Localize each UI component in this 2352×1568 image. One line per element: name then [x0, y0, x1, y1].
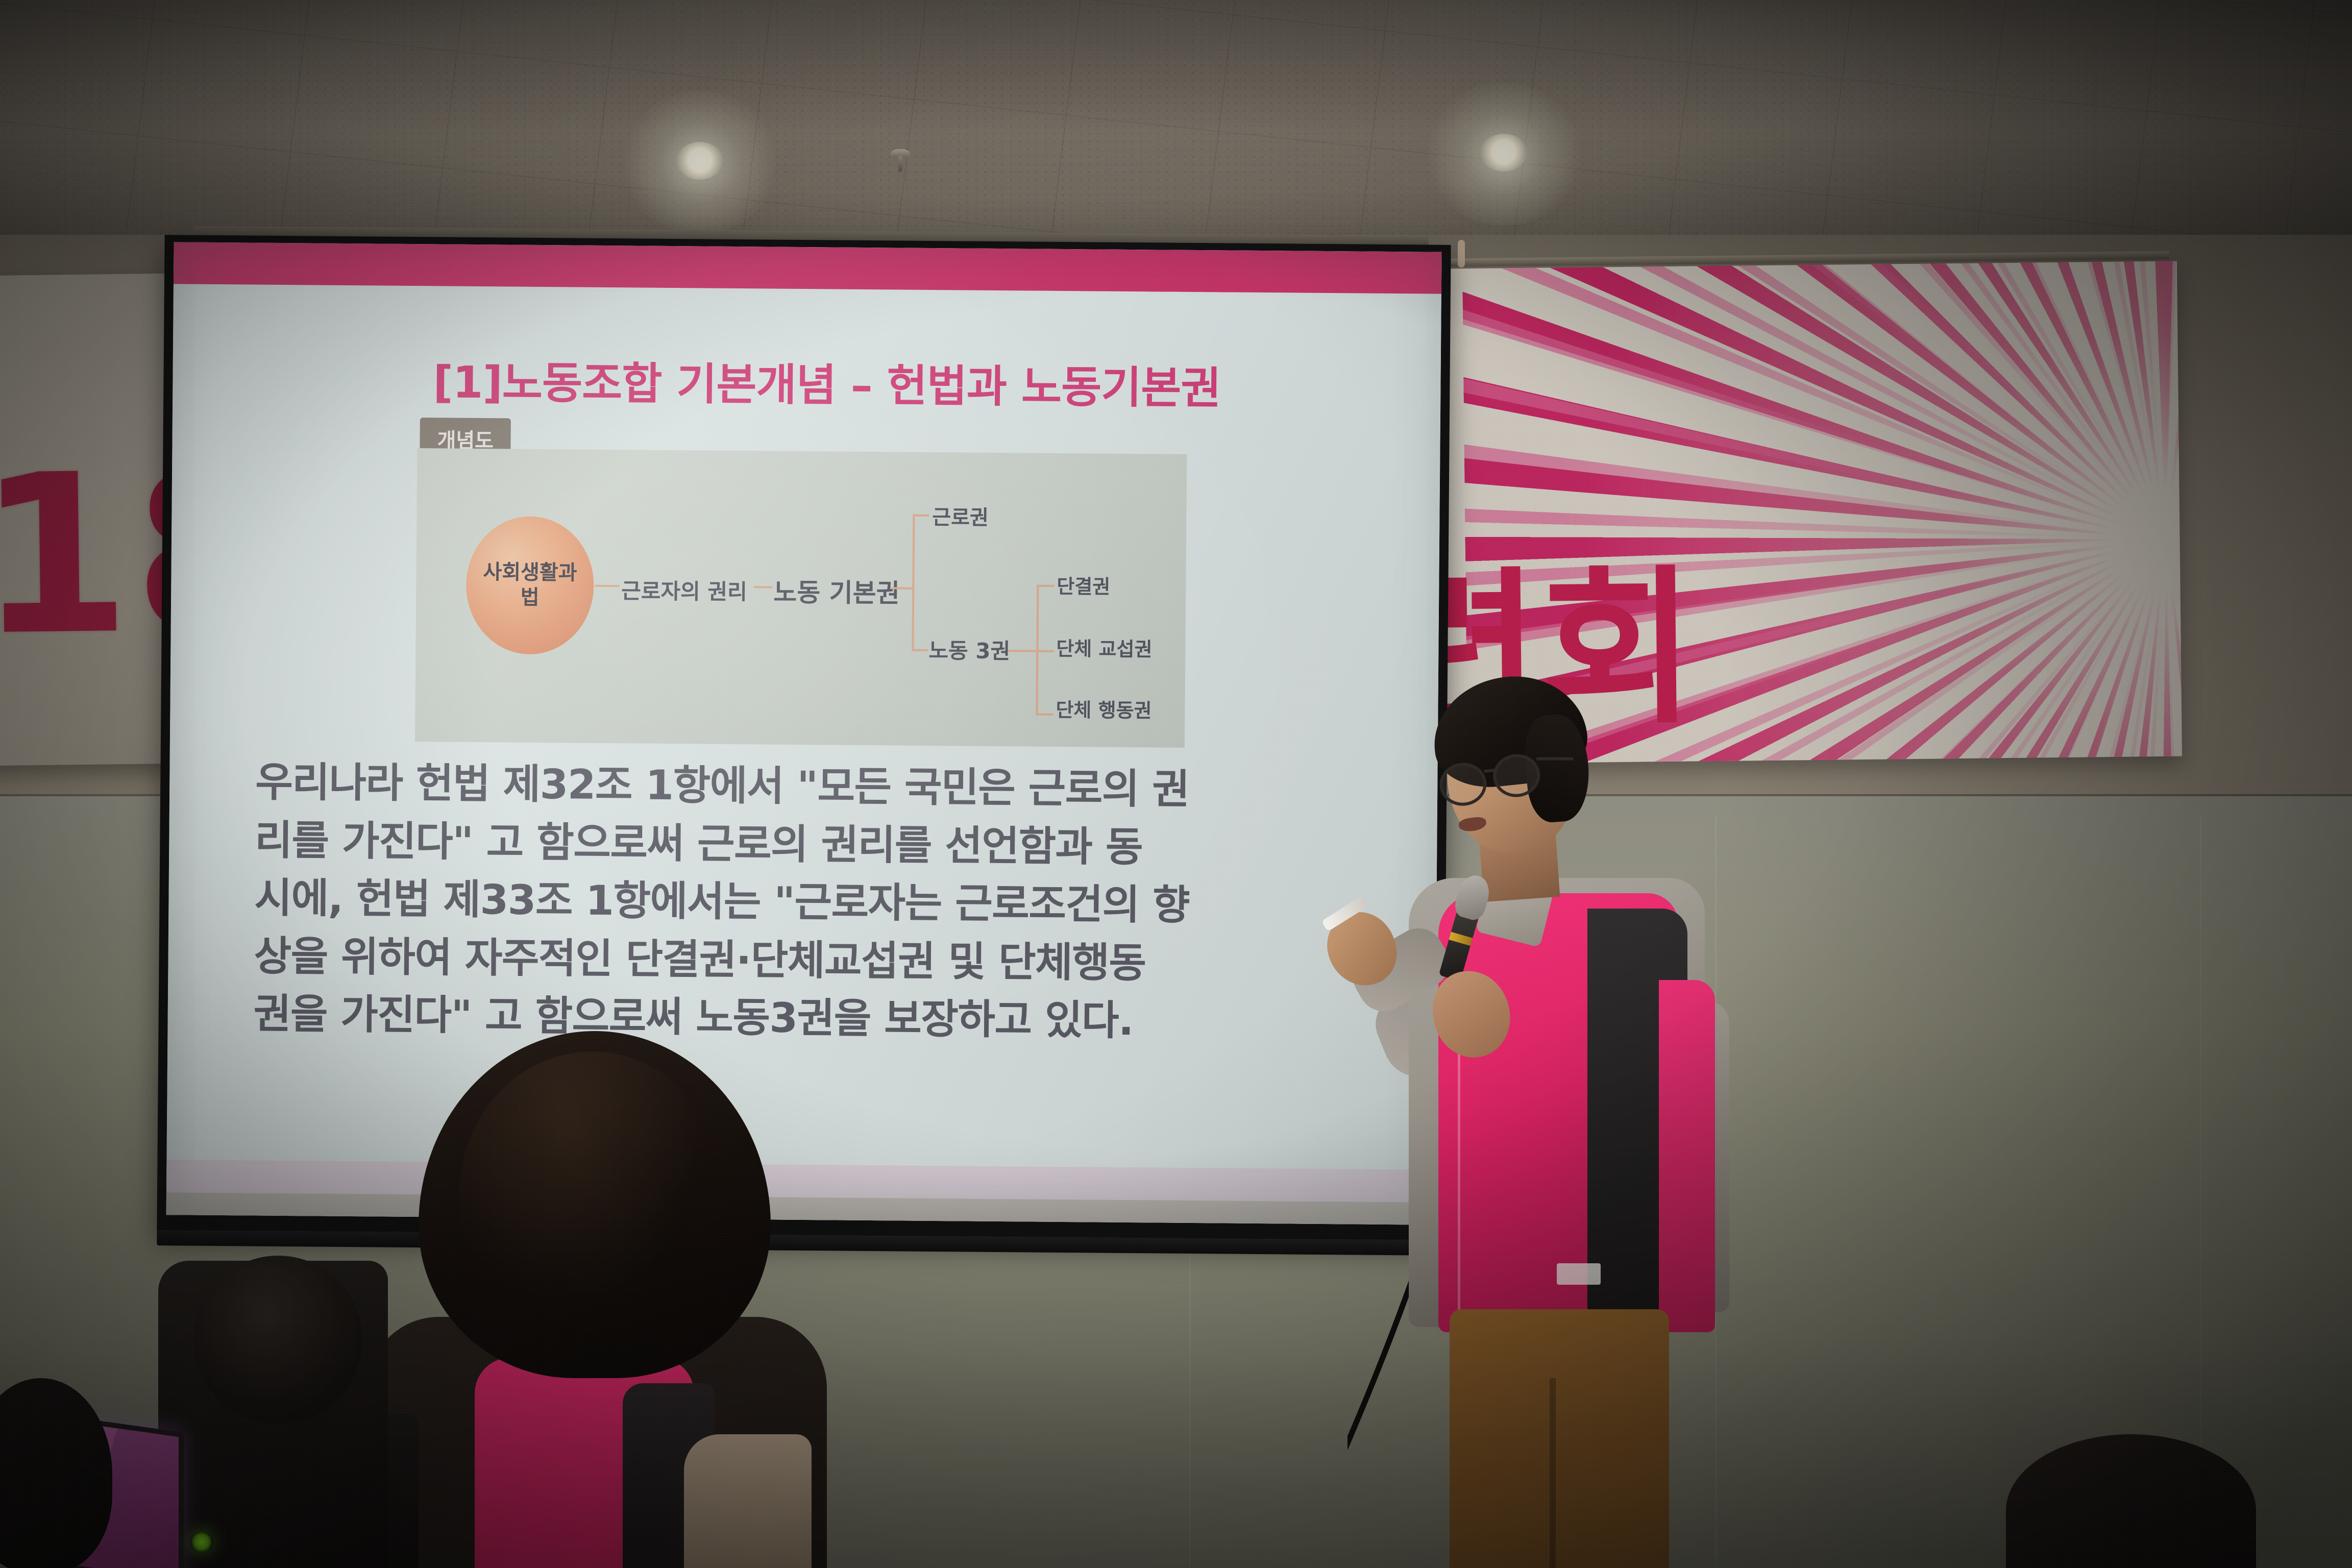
connector-rights-to-basic: [754, 586, 772, 588]
diagram-node-right-to-bargain: 단체 교섭권: [1056, 633, 1152, 661]
connector-to-nodong3kwon: [912, 649, 928, 651]
slide-body-line: 상을 위하여 자주적인 단결권·단체교섭권 및 단체행동: [254, 927, 1352, 993]
fire-sprinkler-icon: [891, 149, 910, 173]
presenter-pants-seam: [1550, 1378, 1556, 1568]
diagram-root-node: 사회생활과법: [465, 516, 594, 655]
presenter: [1347, 653, 1715, 1568]
connector-to-gyoseopkwon: [1036, 650, 1053, 652]
connector-root-to-rights: [595, 585, 619, 587]
diagram-node-right-to-organize: 단결권: [1057, 571, 1110, 599]
conference-room-scene: 018 련회 트 [1]노동조합 기본개념 – 헌법과 노동기본권 개념도 사회…: [0, 0, 2352, 1568]
concept-diagram: 사회생활과법 근로자의 권리 노동 기본권 근로권: [415, 448, 1187, 748]
connector-basic-vertical: [912, 514, 915, 651]
slide-title: [1]노동조합 기본개념 – 헌법과 노동기본권: [433, 346, 1221, 416]
ceiling-downlight-icon: [1480, 134, 1527, 171]
concept-diagram-panel: 사회생활과법 근로자의 권리 노동 기본권 근로권: [415, 448, 1187, 748]
presenter-vest-back-panel: [1659, 980, 1715, 1332]
diagram-node-workers-rights: 근로자의 권리: [621, 574, 747, 606]
banner-hook: [1458, 240, 1465, 267]
diagram-node-right-to-work: 근로권: [932, 501, 989, 531]
recording-led-icon: [190, 1531, 213, 1553]
diagram-root-label-line1: 사회생활과법: [483, 560, 577, 610]
diagram-node-three-labor-rights: 노동 3권: [928, 633, 1010, 665]
diagram-node-labor-basic-rights: 노동 기본권: [773, 572, 900, 610]
presenter-name-badge: [1557, 1263, 1601, 1285]
audience-sleeve: [684, 1434, 812, 1568]
slide-body-text: 우리나라 헌법 제32조 1항에서 "모든 국민은 근로의 권 리를 가진다" …: [253, 753, 1353, 1052]
connector-basic-stub: [892, 587, 913, 589]
connector-to-geunrokwon: [913, 514, 929, 517]
slide-body-line: 시에, 헌법 제33조 1항에서는 "근로자는 근로조건의 향: [254, 869, 1352, 936]
connector-to-dangyeolkwon: [1037, 585, 1054, 587]
connector-3kwon-stub: [1008, 650, 1037, 652]
diagram-node-right-to-act: 단체 행동권: [1056, 694, 1151, 723]
presenter-pants: [1450, 1309, 1669, 1568]
slide-body-line: 리를 가진다" 고 함으로써 근로의 권리를 선언함과 동: [255, 811, 1353, 877]
camera-lens-icon: [194, 1256, 362, 1424]
connector-to-haengdongkwon: [1036, 714, 1053, 716]
slide-body-line: 우리나라 헌법 제32조 1항에서 "모든 국민은 근로의 권: [255, 753, 1353, 820]
ceiling-downlight-icon: [676, 142, 723, 180]
